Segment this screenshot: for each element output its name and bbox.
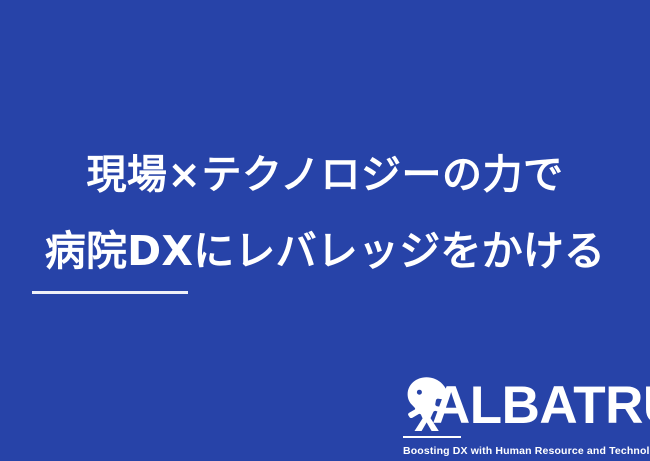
headline-line-1: 現場×テクノロジーの力で (0, 137, 650, 213)
headline-line-2: 病院DXにレバレッジをかける (0, 213, 650, 289)
brand-logo-lockup: ALBATRUS Boosting DX with Human Resource… (398, 376, 650, 461)
logo-wordmark-row: ALBATRUS (398, 376, 650, 432)
logo-wordmark: ALBATRUS (432, 378, 650, 434)
headline-accent-rule (32, 291, 188, 294)
presentation-slide: 現場×テクノロジーの力で 病院DXにレバレッジをかける ALBATRUS Boo… (0, 0, 650, 461)
logo-tagline: Boosting DX with Human Resource and Tech… (403, 444, 650, 458)
headline-block: 現場×テクノロジーの力で 病院DXにレバレッジをかける (0, 137, 650, 289)
logo-divider-rule (403, 436, 461, 438)
